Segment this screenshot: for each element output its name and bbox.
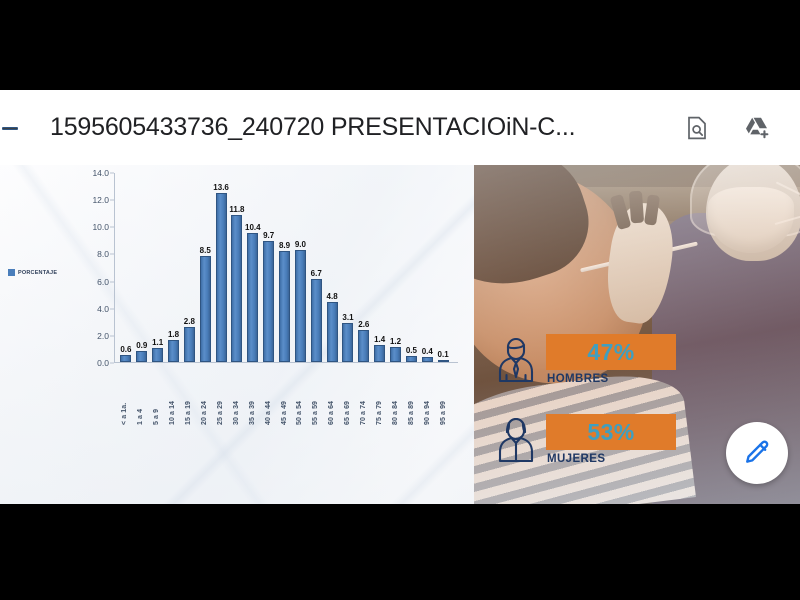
gender-label-hombres: HOMBRES <box>546 373 676 385</box>
gender-pct-hombres: 47% <box>587 339 634 366</box>
bar <box>327 302 338 362</box>
gender-pill-hombres: 47% <box>546 334 676 370</box>
bar <box>247 233 258 362</box>
x-tick: 55 a 59 <box>308 365 324 425</box>
pencil-edit-icon <box>742 438 772 468</box>
bar <box>295 250 306 362</box>
gender-label-mujeres: MUJERES <box>546 453 676 465</box>
bar <box>406 356 417 362</box>
bar <box>358 330 369 362</box>
bar-value-label: 8.5 <box>200 246 211 255</box>
back-arrow-icon[interactable] <box>2 108 32 148</box>
y-tick-label: 8.0 <box>97 249 109 259</box>
bar-value-label: 1.4 <box>374 335 385 344</box>
bar-column: 0.9 <box>134 173 150 362</box>
x-tick: 40 a 44 <box>260 365 276 425</box>
bar-value-label: 13.6 <box>213 183 229 192</box>
edit-fab-button[interactable] <box>726 422 788 484</box>
bar-value-label: 0.4 <box>422 347 433 356</box>
x-tick: 35 a 39 <box>244 365 260 425</box>
bar <box>279 251 290 362</box>
gender-pill-mujeres: 53% <box>546 414 676 450</box>
bar-value-label: 0.6 <box>120 345 131 354</box>
bar-value-label: 2.8 <box>184 317 195 326</box>
bar <box>438 360 449 362</box>
x-tick: 25 a 29 <box>212 365 228 425</box>
add-to-drive-icon[interactable] <box>742 113 772 143</box>
x-tick-label: 80 a 84 <box>392 365 399 425</box>
x-tick-label: 1 a 4 <box>137 365 144 425</box>
viewer-toolbar: 1595605433736_240720 PRESENTACIOiN-C... <box>0 90 800 165</box>
bar-column: 0.6 <box>118 173 134 362</box>
screenshot-root: 1595605433736_240720 PRESENTACIOiN-C... <box>0 0 800 600</box>
bar-column: 4.8 <box>324 173 340 362</box>
gender-row-hombres: 47% HOMBRES <box>494 334 676 385</box>
x-tick-label: 90 a 94 <box>424 365 431 425</box>
x-tick: 95 a 99 <box>435 365 451 425</box>
bar <box>311 279 322 362</box>
bar-value-label: 8.9 <box>279 241 290 250</box>
y-tick-label: 6.0 <box>97 277 109 287</box>
y-tick-label: 0.0 <box>97 358 109 368</box>
x-tick-label: 60 a 64 <box>328 365 335 425</box>
gender-row-mujeres: 53% MUJERES <box>494 414 676 465</box>
bar-value-label: 10.4 <box>245 223 261 232</box>
bar-column: 0.4 <box>419 173 435 362</box>
y-tick-label: 12.0 <box>92 195 109 205</box>
bar-value-label: 9.0 <box>295 240 306 249</box>
document-title: 1595605433736_240720 PRESENTACIOiN-C... <box>32 113 682 142</box>
x-tick: 80 a 84 <box>387 365 403 425</box>
x-tick: 45 a 49 <box>276 365 292 425</box>
bar <box>152 348 163 362</box>
x-tick: 65 a 69 <box>340 365 356 425</box>
x-tick: 70 a 74 <box>356 365 372 425</box>
x-tick: 20 a 24 <box>197 365 213 425</box>
bar-value-label: 9.7 <box>263 231 274 240</box>
bar-column: 9.0 <box>292 173 308 362</box>
bar <box>422 357 433 362</box>
bar-series: 0.60.91.11.82.88.513.611.810.49.78.99.06… <box>115 173 454 362</box>
x-tick: 1 a 4 <box>133 365 149 425</box>
woman-icon <box>494 414 538 464</box>
bar-column: 11.8 <box>229 173 245 362</box>
bar-value-label: 4.8 <box>327 292 338 301</box>
bar <box>200 256 211 362</box>
x-axis-labels: < a 1a.1 a 45 a 910 a 1415 a 1920 a 2425… <box>114 365 454 425</box>
x-tick: 85 a 89 <box>403 365 419 425</box>
bar-value-label: 2.6 <box>358 320 369 329</box>
bar <box>184 327 195 362</box>
x-tick-label: 50 a 54 <box>296 365 303 425</box>
y-tick-label: 4.0 <box>97 304 109 314</box>
y-axis: 0.02.04.06.08.010.012.014.0 <box>62 173 114 363</box>
toolbar-actions <box>682 113 786 143</box>
bar-column: 0.1 <box>435 173 451 362</box>
bar-column: 10.4 <box>245 173 261 362</box>
gender-pct-mujeres: 53% <box>587 419 634 446</box>
chart-legend: PORCENTAJE <box>8 269 57 276</box>
x-tick: < a 1a. <box>117 365 133 425</box>
legend-swatch-porcentaje <box>8 269 15 276</box>
bar-column: 2.8 <box>181 173 197 362</box>
bar-column: 3.1 <box>340 173 356 362</box>
letterbox-bottom <box>0 504 800 600</box>
x-tick-label: 85 a 89 <box>408 365 415 425</box>
bar-value-label: 1.1 <box>152 338 163 347</box>
slide-canvas[interactable]: PORCENTAJE 0.02.04.06.08.010.012.014.0 0… <box>0 165 800 504</box>
bar-column: 0.5 <box>403 173 419 362</box>
x-tick: 50 a 54 <box>292 365 308 425</box>
man-icon <box>494 334 538 384</box>
bar <box>231 215 242 362</box>
x-tick: 5 a 9 <box>149 365 165 425</box>
bar <box>374 345 385 362</box>
bar <box>342 323 353 362</box>
bar-column: 13.6 <box>213 173 229 362</box>
x-tick-label: 95 a 99 <box>440 365 447 425</box>
bar-column: 9.7 <box>261 173 277 362</box>
x-tick-label: 45 a 49 <box>281 365 288 425</box>
x-tick-label: 65 a 69 <box>344 365 351 425</box>
bar <box>136 351 147 362</box>
x-tick-label: 25 a 29 <box>217 365 224 425</box>
bar <box>168 340 179 362</box>
x-tick: 60 a 64 <box>324 365 340 425</box>
bar-value-label: 0.1 <box>438 350 449 359</box>
bar-column: 1.2 <box>388 173 404 362</box>
chart-panel: PORCENTAJE 0.02.04.06.08.010.012.014.0 0… <box>0 165 474 504</box>
legend-label-porcentaje: PORCENTAJE <box>18 270 57 276</box>
x-tick-label: 30 a 34 <box>233 365 240 425</box>
x-tick-label: 40 a 44 <box>265 365 272 425</box>
y-tick-label: 10.0 <box>92 222 109 232</box>
bar-value-label: 1.2 <box>390 337 401 346</box>
bar-column: 8.9 <box>277 173 293 362</box>
bar <box>263 241 274 362</box>
x-tick: 15 a 19 <box>181 365 197 425</box>
bar-column: 8.5 <box>197 173 213 362</box>
x-tick-label: 70 a 74 <box>360 365 367 425</box>
bar-column: 1.8 <box>166 173 182 362</box>
plot-area: 0.60.91.11.82.88.513.611.810.49.78.99.06… <box>114 173 454 363</box>
chart-plot: 0.02.04.06.08.010.012.014.0 0.60.91.11.8… <box>62 173 454 363</box>
bar <box>390 347 401 362</box>
bar-value-label: 0.9 <box>136 341 147 350</box>
x-tick: 30 a 34 <box>228 365 244 425</box>
bar-value-label: 6.7 <box>311 269 322 278</box>
x-tick-label: 10 a 14 <box>169 365 176 425</box>
x-tick-label: 35 a 39 <box>249 365 256 425</box>
bar-column: 1.4 <box>372 173 388 362</box>
bar-value-label: 0.5 <box>406 346 417 355</box>
x-tick: 75 a 79 <box>372 365 388 425</box>
bar-value-label: 1.8 <box>168 330 179 339</box>
bar <box>216 193 227 362</box>
bar-value-label: 11.8 <box>229 205 244 214</box>
x-tick: 90 a 94 <box>419 365 435 425</box>
x-tick-label: 55 a 59 <box>312 365 319 425</box>
gender-value-hombres: 47% HOMBRES <box>546 334 676 385</box>
bar-value-label: 3.1 <box>342 313 353 322</box>
x-tick-label: < a 1a. <box>121 365 128 425</box>
x-tick-label: 15 a 19 <box>185 365 192 425</box>
y-tick-label: 14.0 <box>92 168 109 178</box>
bar-column: 2.6 <box>356 173 372 362</box>
y-tick-label: 2.0 <box>97 331 109 341</box>
x-tick-label: 75 a 79 <box>376 365 383 425</box>
document-search-icon[interactable] <box>682 113 712 143</box>
x-tick: 10 a 14 <box>165 365 181 425</box>
bar <box>120 355 131 362</box>
x-axis-baseline <box>115 362 458 363</box>
bar-column: 1.1 <box>150 173 166 362</box>
bar-column: 6.7 <box>308 173 324 362</box>
x-tick-label: 5 a 9 <box>153 365 160 425</box>
gender-value-mujeres: 53% MUJERES <box>546 414 676 465</box>
x-tick-label: 20 a 24 <box>201 365 208 425</box>
letterbox-top <box>0 0 800 90</box>
